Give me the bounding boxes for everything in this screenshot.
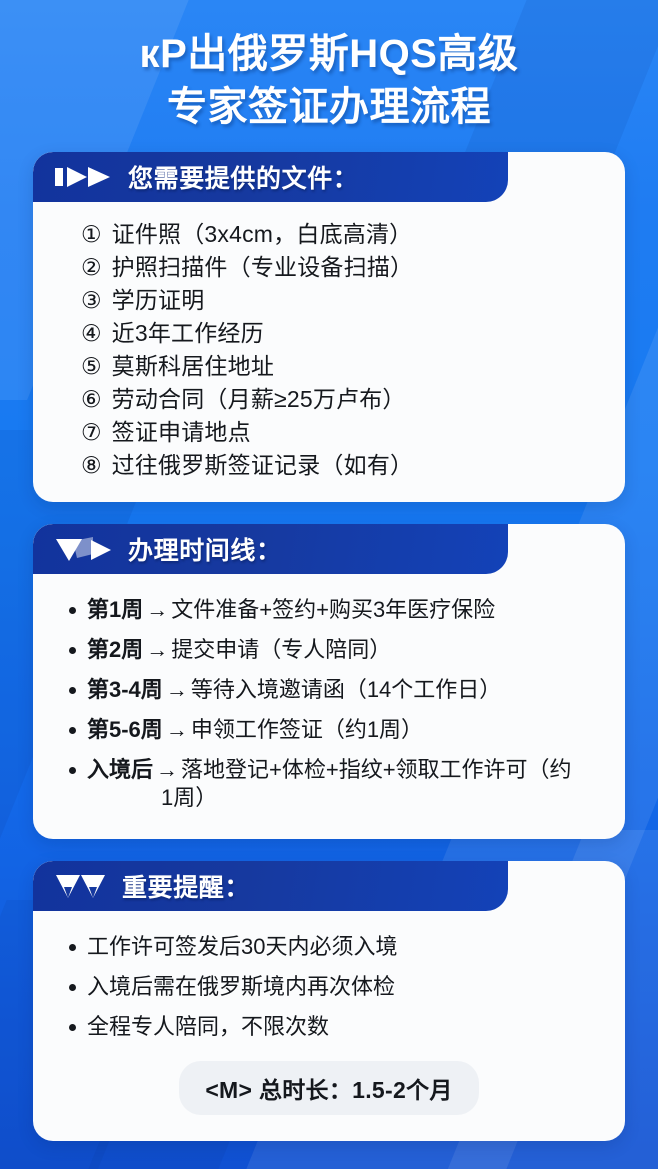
list-item: 入境后→落地登记+体检+指纹+领取工作许可（约 1周）	[69, 750, 603, 818]
timeline-detail: 落地登记+体检+指纹+领取工作许可（约	[181, 757, 572, 782]
infographic-poster: кР出俄罗斯HQS高级 专家签证办理流程 您需要提供的文件： ① 证件照（3x4…	[0, 0, 658, 1169]
total-duration-row: <M> 总时长：1.5-2个月	[55, 1047, 603, 1121]
bullet-dot-icon	[69, 607, 76, 614]
list-item: 入境后需在俄罗斯境内再次体检	[69, 967, 603, 1007]
list-item: ⑤ 莫斯科居住地址	[81, 350, 603, 383]
list-item-label: 莫斯科居住地址	[112, 355, 274, 378]
list-item-label: 第3-4周→等待入境邀请函（14个工作日）	[87, 676, 603, 704]
arrow-right-icon: →	[163, 677, 191, 702]
total-duration-badge: <M> 总时长：1.5-2个月	[179, 1061, 478, 1115]
list-item: ⑥ 劳动合同（月薪≥25万卢布）	[81, 383, 603, 416]
list-item: 第5-6周→申领工作签证（约1周）	[69, 710, 603, 750]
timeline-card: 办理时间线： 第1周→文件准备+签约+购买3年医疗保险 第2周→提交申请（专人陪…	[33, 524, 625, 839]
list-item: 工作许可签发后30天内必须入境	[69, 927, 603, 967]
documents-card: 您需要提供的文件： ① 证件照（3x4cm，白底高清） ② 护照扫描件（专业设备…	[33, 152, 625, 502]
list-item-number: ⑤	[81, 355, 102, 378]
arrow-right-icon: →	[153, 757, 181, 782]
timeline-stage: 第1周	[87, 597, 143, 622]
list-item-number: ⑦	[81, 421, 102, 444]
reminders-card: 重要提醒： 工作许可签发后30天内必须入境 入境后需在俄罗斯境内再次体检 全程专…	[33, 861, 625, 1141]
timeline-stage: 第5-6周	[87, 717, 163, 742]
timeline-detail: 文件准备+签约+购买3年医疗保险	[171, 597, 495, 622]
timeline-stage: 入境后	[87, 757, 153, 782]
list-item: 第3-4周→等待入境邀请函（14个工作日）	[69, 670, 603, 710]
list-item-label: 劳动合同（月薪≥25万卢布）	[112, 388, 406, 411]
reminders-card-body: 工作许可签发后30天内必须入境 入境后需在俄罗斯境内再次体检 全程专人陪同，不限…	[33, 911, 625, 1141]
list-item-label: 护照扫描件（专业设备扫描）	[112, 256, 414, 279]
bullet-dot-icon	[69, 687, 76, 694]
timeline-card-body: 第1周→文件准备+签约+购买3年医疗保险 第2周→提交申请（专人陪同） 第3-4…	[33, 574, 625, 839]
arrow-right-icon: →	[143, 637, 171, 662]
page-title-line-2: 专家签证办理流程	[22, 81, 636, 134]
list-item-label: 第2周→提交申请（专人陪同）	[87, 636, 603, 664]
arrow-right-icon: →	[143, 597, 171, 622]
list-item-label: 入境后需在俄罗斯境内再次体检	[87, 973, 603, 1001]
bullet-dot-icon	[69, 984, 76, 991]
timeline-detail: 等待入境邀请函（14个工作日）	[191, 677, 501, 702]
page-title: кР出俄罗斯HQS高级 专家签证办理流程	[0, 0, 658, 152]
documents-card-header: 您需要提供的文件：	[33, 152, 508, 202]
list-item: ③ 学历证明	[81, 284, 603, 317]
list-item: ④ 近3年工作经历	[81, 317, 603, 350]
documents-list: ① 证件照（3x4cm，白底高清） ② 护照扫描件（专业设备扫描） ③ 学历证明…	[55, 218, 603, 482]
timeline-list: 第1周→文件准备+签约+购买3年医疗保险 第2周→提交申请（专人陪同） 第3-4…	[55, 590, 603, 819]
documents-card-body: ① 证件照（3x4cm，白底高清） ② 护照扫描件（专业设备扫描） ③ 学历证明…	[33, 202, 625, 502]
reminders-card-header-title: 重要提醒：	[122, 868, 250, 904]
timeline-detail-continuation: 1周）	[87, 784, 603, 812]
double-triangle-down-icon	[55, 873, 107, 899]
list-item: ① 证件照（3x4cm，白底高清）	[81, 218, 603, 251]
list-item-label: 全程专人陪同，不限次数	[87, 1013, 603, 1041]
list-item-label: 工作许可签发后30天内必须入境	[87, 933, 603, 961]
page-title-line-1: кР出俄罗斯HQS高级	[22, 28, 636, 81]
bullet-dot-icon	[69, 1024, 76, 1031]
arrow-right-icon: →	[163, 717, 191, 742]
timeline-card-header-title: 办理时间线：	[128, 531, 282, 567]
timeline-stage: 第3-4周	[87, 677, 163, 702]
timeline-stage: 第2周	[87, 637, 143, 662]
list-item-number: ④	[81, 322, 102, 345]
bullet-dot-icon	[69, 767, 76, 774]
list-item-label: 第1周→文件准备+签约+购买3年医疗保险	[87, 596, 603, 624]
list-item-number: ②	[81, 256, 102, 279]
timeline-detail: 申领工作签证（约1周）	[191, 717, 423, 742]
list-item-label: 证件照（3x4cm，白底高清）	[112, 223, 413, 246]
documents-card-header-title: 您需要提供的文件：	[128, 159, 358, 195]
list-item-label: 近3年工作经历	[112, 322, 264, 345]
list-item-label: 入境后→落地登记+体检+指纹+领取工作许可（约 1周）	[87, 756, 603, 812]
triangle-down-right-icon	[55, 536, 113, 562]
bullet-dot-icon	[69, 647, 76, 654]
timeline-detail: 提交申请（专人陪同）	[171, 637, 391, 662]
list-item: ⑧ 过往俄罗斯签证记录（如有）	[81, 449, 603, 482]
bar-double-triangle-right-icon	[55, 164, 113, 190]
list-item: 全程专人陪同，不限次数	[69, 1007, 603, 1047]
list-item-label: 过往俄罗斯签证记录（如有）	[112, 454, 414, 477]
list-item-number: ⑧	[81, 454, 102, 477]
reminders-card-header: 重要提醒：	[33, 861, 508, 911]
list-item-number: ①	[81, 223, 102, 246]
list-item-label: 第5-6周→申领工作签证（约1周）	[87, 716, 603, 744]
list-item-label: 签证申请地点	[112, 421, 251, 444]
timeline-card-header: 办理时间线：	[33, 524, 508, 574]
list-item: ⑦ 签证申请地点	[81, 416, 603, 449]
list-item-number: ⑥	[81, 388, 102, 411]
list-item: 第2周→提交申请（专人陪同）	[69, 630, 603, 670]
bullet-dot-icon	[69, 944, 76, 951]
list-item-label: 学历证明	[112, 289, 205, 312]
list-item: 第1周→文件准备+签约+购买3年医疗保险	[69, 590, 603, 630]
bullet-dot-icon	[69, 727, 76, 734]
reminders-list: 工作许可签发后30天内必须入境 入境后需在俄罗斯境内再次体检 全程专人陪同，不限…	[55, 927, 603, 1047]
list-item-number: ③	[81, 289, 102, 312]
list-item: ② 护照扫描件（专业设备扫描）	[81, 251, 603, 284]
